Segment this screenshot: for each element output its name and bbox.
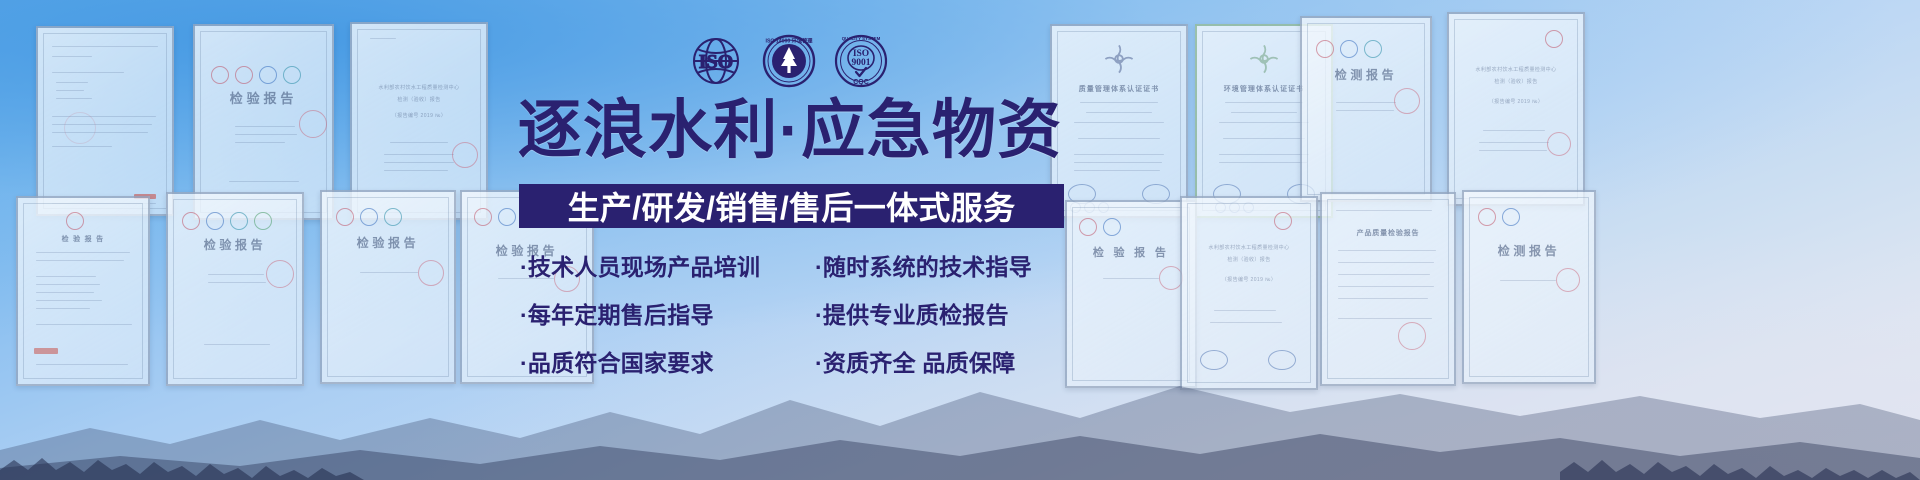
certificate-thumb: 检测报告 — [1462, 190, 1596, 384]
certificate-thumb: 检验报告 — [320, 190, 456, 384]
svg-text:ISO: ISO — [699, 51, 733, 73]
page-title: 逐浪水利·应急物资 — [500, 98, 1080, 162]
certificate-thumb: 水利部农村饮水工程质量检测中心 检测（验收）报告 （报告编号 2019 №） — [1180, 196, 1318, 390]
feature-item: ·提供专业质检报告 — [815, 296, 1065, 330]
certificate-thumb: 检 验 报 告 — [16, 196, 150, 386]
subtitle-banner: 生产/研发/销售/售后一体式服务 — [519, 184, 1064, 228]
iso-9001-cqc-badge: ISO 9001 CQC QUALITY SYSTEM — [834, 34, 888, 88]
feature-item: ·资质齐全 品质保障 — [815, 344, 1065, 378]
iso-badge-group: ISO ISO 14000 环境管理 — [688, 34, 888, 88]
certificate-thumb: 检测报告 — [1300, 16, 1432, 202]
certificate-thumb: 检 验 报 告 — [1065, 200, 1197, 388]
atom-icon — [1247, 42, 1281, 76]
banner-content: ISO ISO 14000 环境管理 — [500, 0, 1080, 480]
iso-14000-badge: ISO 14000 环境管理 — [762, 34, 816, 88]
svg-text:CQC: CQC — [853, 79, 869, 86]
feature-list: ·技术人员现场产品培训 ·随时系统的技术指导 ·每年定期售后指导 ·提供专业质检… — [520, 248, 1065, 378]
certificate-thumb: 检验报告 — [193, 24, 334, 220]
feature-item: ·每年定期售后指导 — [520, 296, 798, 330]
feature-item: ·品质符合国家要求 — [520, 344, 798, 378]
feature-item: ·随时系统的技术指导 — [815, 248, 1065, 282]
certificate-thumb — [36, 26, 174, 216]
feature-row: ·技术人员现场产品培训 ·随时系统的技术指导 — [520, 248, 1065, 282]
certificate-thumb: 产品质量检验报告 — [1320, 192, 1456, 386]
svg-text:9001: 9001 — [852, 58, 871, 68]
atom-icon — [1102, 42, 1136, 76]
certificate-thumb: 检验报告 — [166, 192, 304, 386]
feature-item: ·技术人员现场产品培训 — [520, 248, 798, 282]
iso-globe-badge: ISO — [688, 34, 744, 88]
feature-row: ·每年定期售后指导 ·提供专业质检报告 — [520, 296, 1065, 330]
svg-text:QUALITY SYSTEM: QUALITY SYSTEM — [842, 36, 881, 41]
subtitle-text: 生产/研发/销售/售后一体式服务 — [568, 183, 1016, 229]
feature-row: ·品质符合国家要求 ·资质齐全 品质保障 — [520, 344, 1065, 378]
promo-banner: 检验报告 水利部农村饮水工程质量检测中心 检测（验收）报告 （报告编号 2019… — [0, 0, 1920, 480]
certificate-thumb: 水利部农村饮水工程质量检测中心 检测（验收）报告 （报告编号 2019 №） — [1447, 12, 1585, 206]
